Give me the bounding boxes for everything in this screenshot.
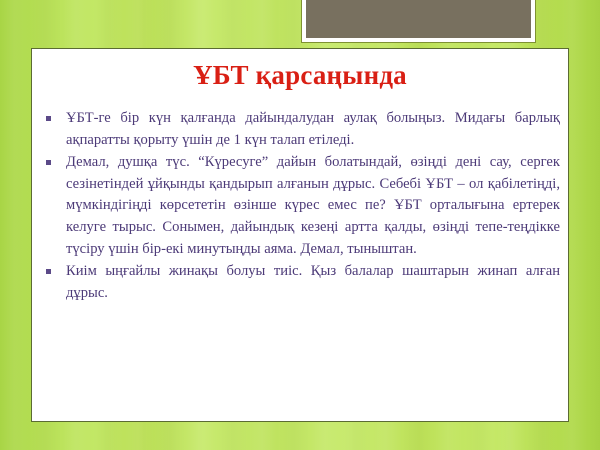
- list-item-text: Киім ыңғайлы жинақы болуы тиіс. Қыз бала…: [66, 261, 560, 304]
- list-item: ҰБТ-ге бір күн қалғанда дайындалудан аул…: [42, 108, 560, 151]
- list-item-text: Демал, душқа түс. “Күресуге” дайын болат…: [66, 152, 560, 260]
- square-bullet-icon: [46, 116, 51, 121]
- presentation-slide: ҰБТ қарсаңында ҰБТ-ге бір күн қалғанда д…: [0, 0, 600, 450]
- bullet-list: ҰБТ-ге бір күн қалғанда дайындалудан аул…: [42, 108, 560, 305]
- list-item: Киім ыңғайлы жинақы болуы тиіс. Қыз бала…: [42, 261, 560, 304]
- picture-frame: [301, 0, 536, 43]
- list-item-text: ҰБТ-ге бір күн қалғанда дайындалудан аул…: [66, 108, 560, 151]
- square-bullet-icon: [46, 160, 51, 165]
- list-item: Демал, душқа түс. “Күресуге” дайын болат…: [42, 152, 560, 260]
- slide-title: ҰБТ қарсаңында: [31, 60, 569, 91]
- picture-placeholder-image: [306, 0, 531, 38]
- square-bullet-icon: [46, 269, 51, 274]
